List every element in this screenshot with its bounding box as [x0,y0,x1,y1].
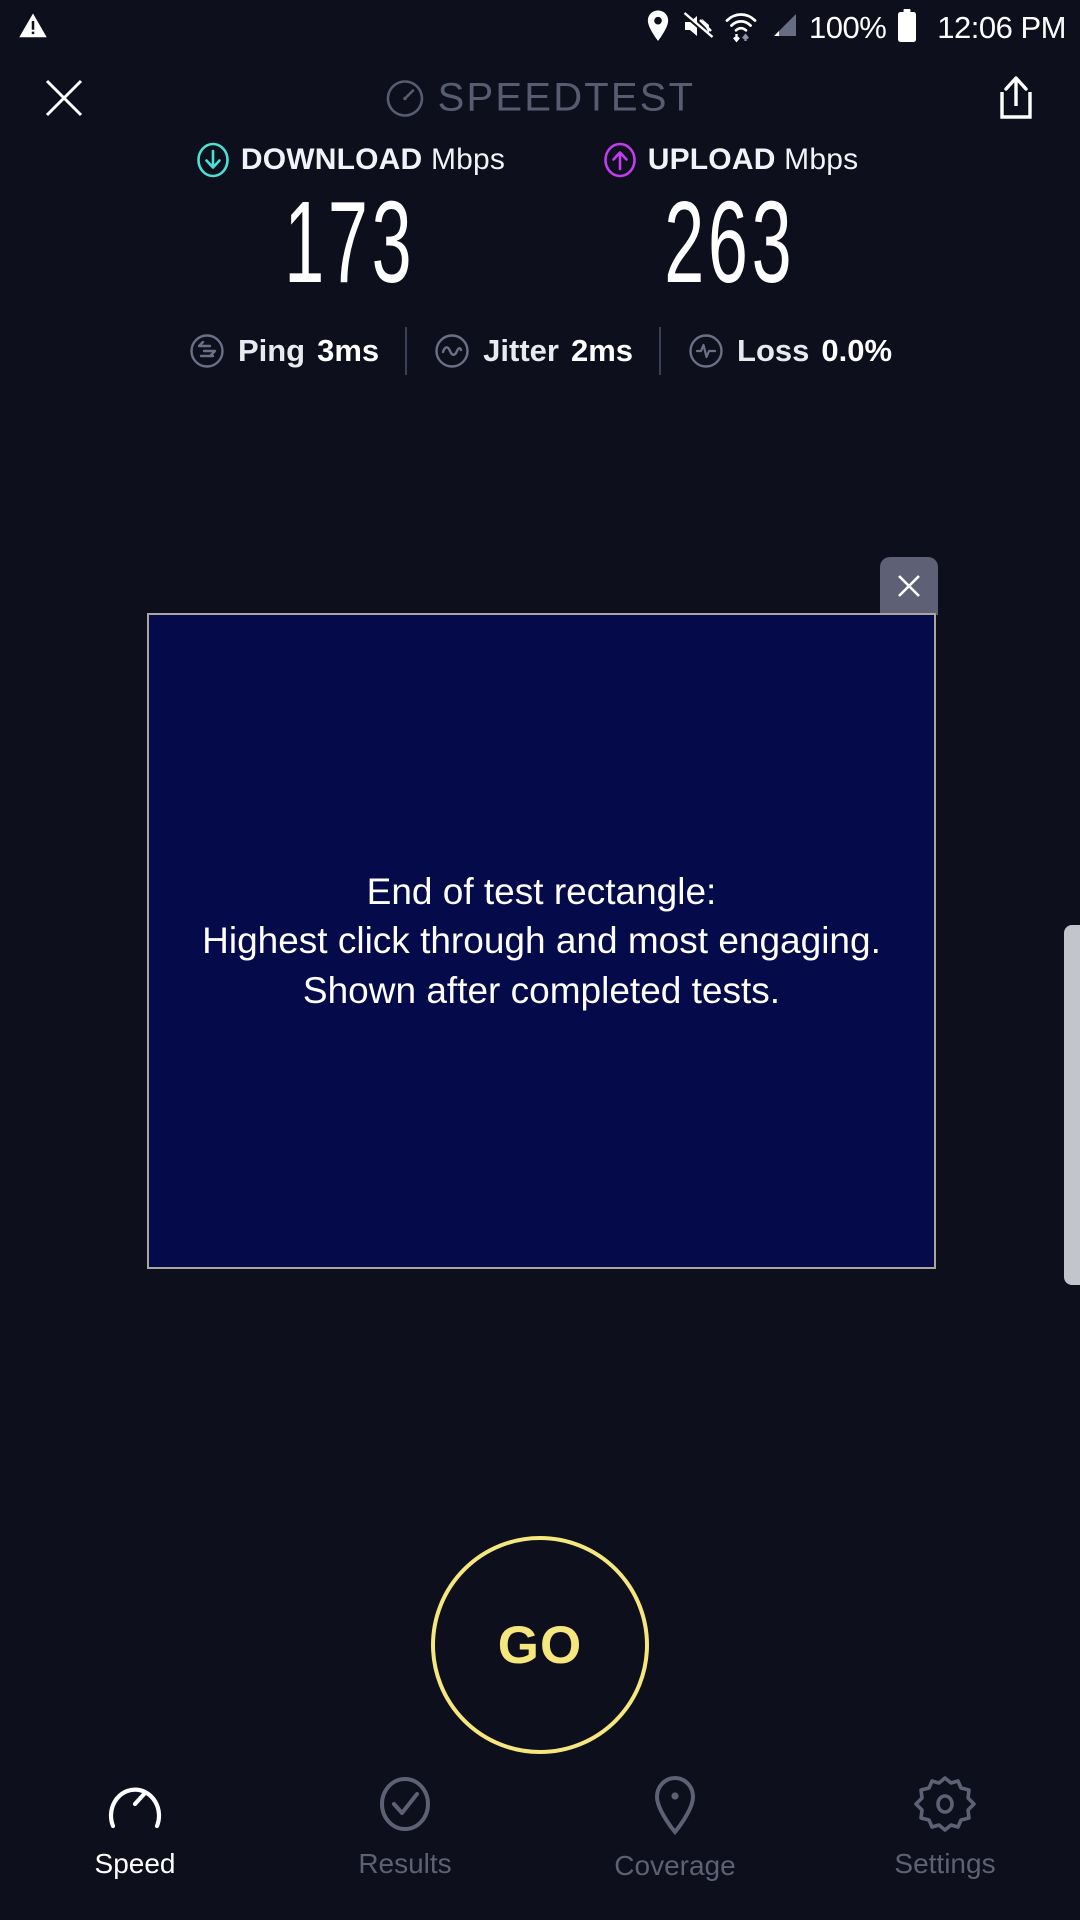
speedtest-app-screen: 100% 12:06 PM SPEEDTEST [0,0,1080,1920]
upload-result: UPLOAD Mbps 263 [540,140,920,300]
metric-ping-label: Ping [238,333,305,369]
download-result: DOWNLOAD Mbps 173 [160,140,540,300]
download-label: DOWNLOAD Mbps [241,143,505,177]
speedometer-icon [385,78,425,118]
location-pin-icon [645,10,671,47]
metrics-row: Ping 3ms Jitter 2ms Loss 0.0% [0,322,1080,380]
ad-text: End of test rectangle: Highest click thr… [202,867,881,1015]
go-button-label: GO [498,1615,582,1676]
brand-title: SPEEDTEST [438,76,696,121]
ad-line-3: Shown after completed tests. [202,966,881,1015]
ad-line-1: End of test rectangle: [202,867,881,916]
close-icon [894,571,924,601]
warning-triangle-icon [18,11,48,46]
download-label-text: DOWNLOAD [241,143,423,176]
bottom-navigation: Speed Results Coverage Settings [0,1760,1080,1920]
upload-value: 263 [664,184,795,300]
download-unit: Mbps [431,143,505,176]
nav-item-results[interactable]: Results [270,1760,540,1920]
metric-loss-label: Loss [737,333,809,369]
jitter-icon [433,332,471,370]
metric-ping-value: 3ms [317,333,379,369]
nav-label-settings: Settings [894,1848,995,1880]
upload-label: UPLOAD Mbps [648,143,859,177]
vertical-scrollbar[interactable] [1064,925,1080,1285]
metric-loss: Loss 0.0% [661,332,918,370]
battery-full-icon [897,9,917,48]
status-bar-clock: 12:06 PM [937,10,1066,46]
upload-header: UPLOAD Mbps [602,140,859,180]
status-bar: 100% 12:06 PM [0,0,1080,56]
advertisement-container: End of test rectangle: Highest click thr… [147,613,936,1269]
location-pin-icon [643,1774,707,1836]
ad-close-button[interactable] [880,557,938,615]
metric-jitter: Jitter 2ms [407,332,659,370]
ping-icon [188,332,226,370]
volume-mute-icon [682,11,714,46]
download-value: 173 [284,184,415,300]
nav-item-coverage[interactable]: Coverage [540,1760,810,1920]
loss-icon [687,332,725,370]
cellular-signal-icon [768,11,798,46]
go-button[interactable]: GO [431,1536,649,1754]
speedometer-icon [103,1774,167,1834]
ad-line-2: Highest click through and most engaging. [202,916,881,965]
results-panel: DOWNLOAD Mbps 173 UPLOAD Mbps [0,140,1080,380]
upload-label-text: UPLOAD [648,143,776,176]
upload-arrow-icon [602,142,638,178]
wifi-icon [725,9,757,48]
download-arrow-icon [195,142,231,178]
advertisement-banner[interactable]: End of test rectangle: Highest click thr… [147,613,936,1269]
battery-percent-label: 100% [809,10,886,46]
status-bar-left [18,11,48,46]
nav-item-settings[interactable]: Settings [810,1760,1080,1920]
download-header: DOWNLOAD Mbps [195,140,505,180]
nav-label-speed: Speed [95,1848,176,1880]
check-circle-icon [373,1774,437,1834]
metric-jitter-label: Jitter [483,333,559,369]
nav-item-speed[interactable]: Speed [0,1760,270,1920]
brand-logo: SPEEDTEST [0,76,1080,121]
app-header: SPEEDTEST [0,56,1080,140]
share-button[interactable] [988,70,1044,126]
nav-label-coverage: Coverage [614,1850,735,1882]
upload-unit: Mbps [784,143,858,176]
rates-row: DOWNLOAD Mbps 173 UPLOAD Mbps [0,140,1080,300]
metric-loss-value: 0.0% [821,333,892,369]
nav-label-results: Results [358,1848,451,1880]
status-bar-right: 100% 12:06 PM [645,9,1066,48]
gear-icon [913,1774,977,1834]
metric-ping: Ping 3ms [162,332,405,370]
share-icon [994,74,1038,122]
metric-jitter-value: 2ms [571,333,633,369]
